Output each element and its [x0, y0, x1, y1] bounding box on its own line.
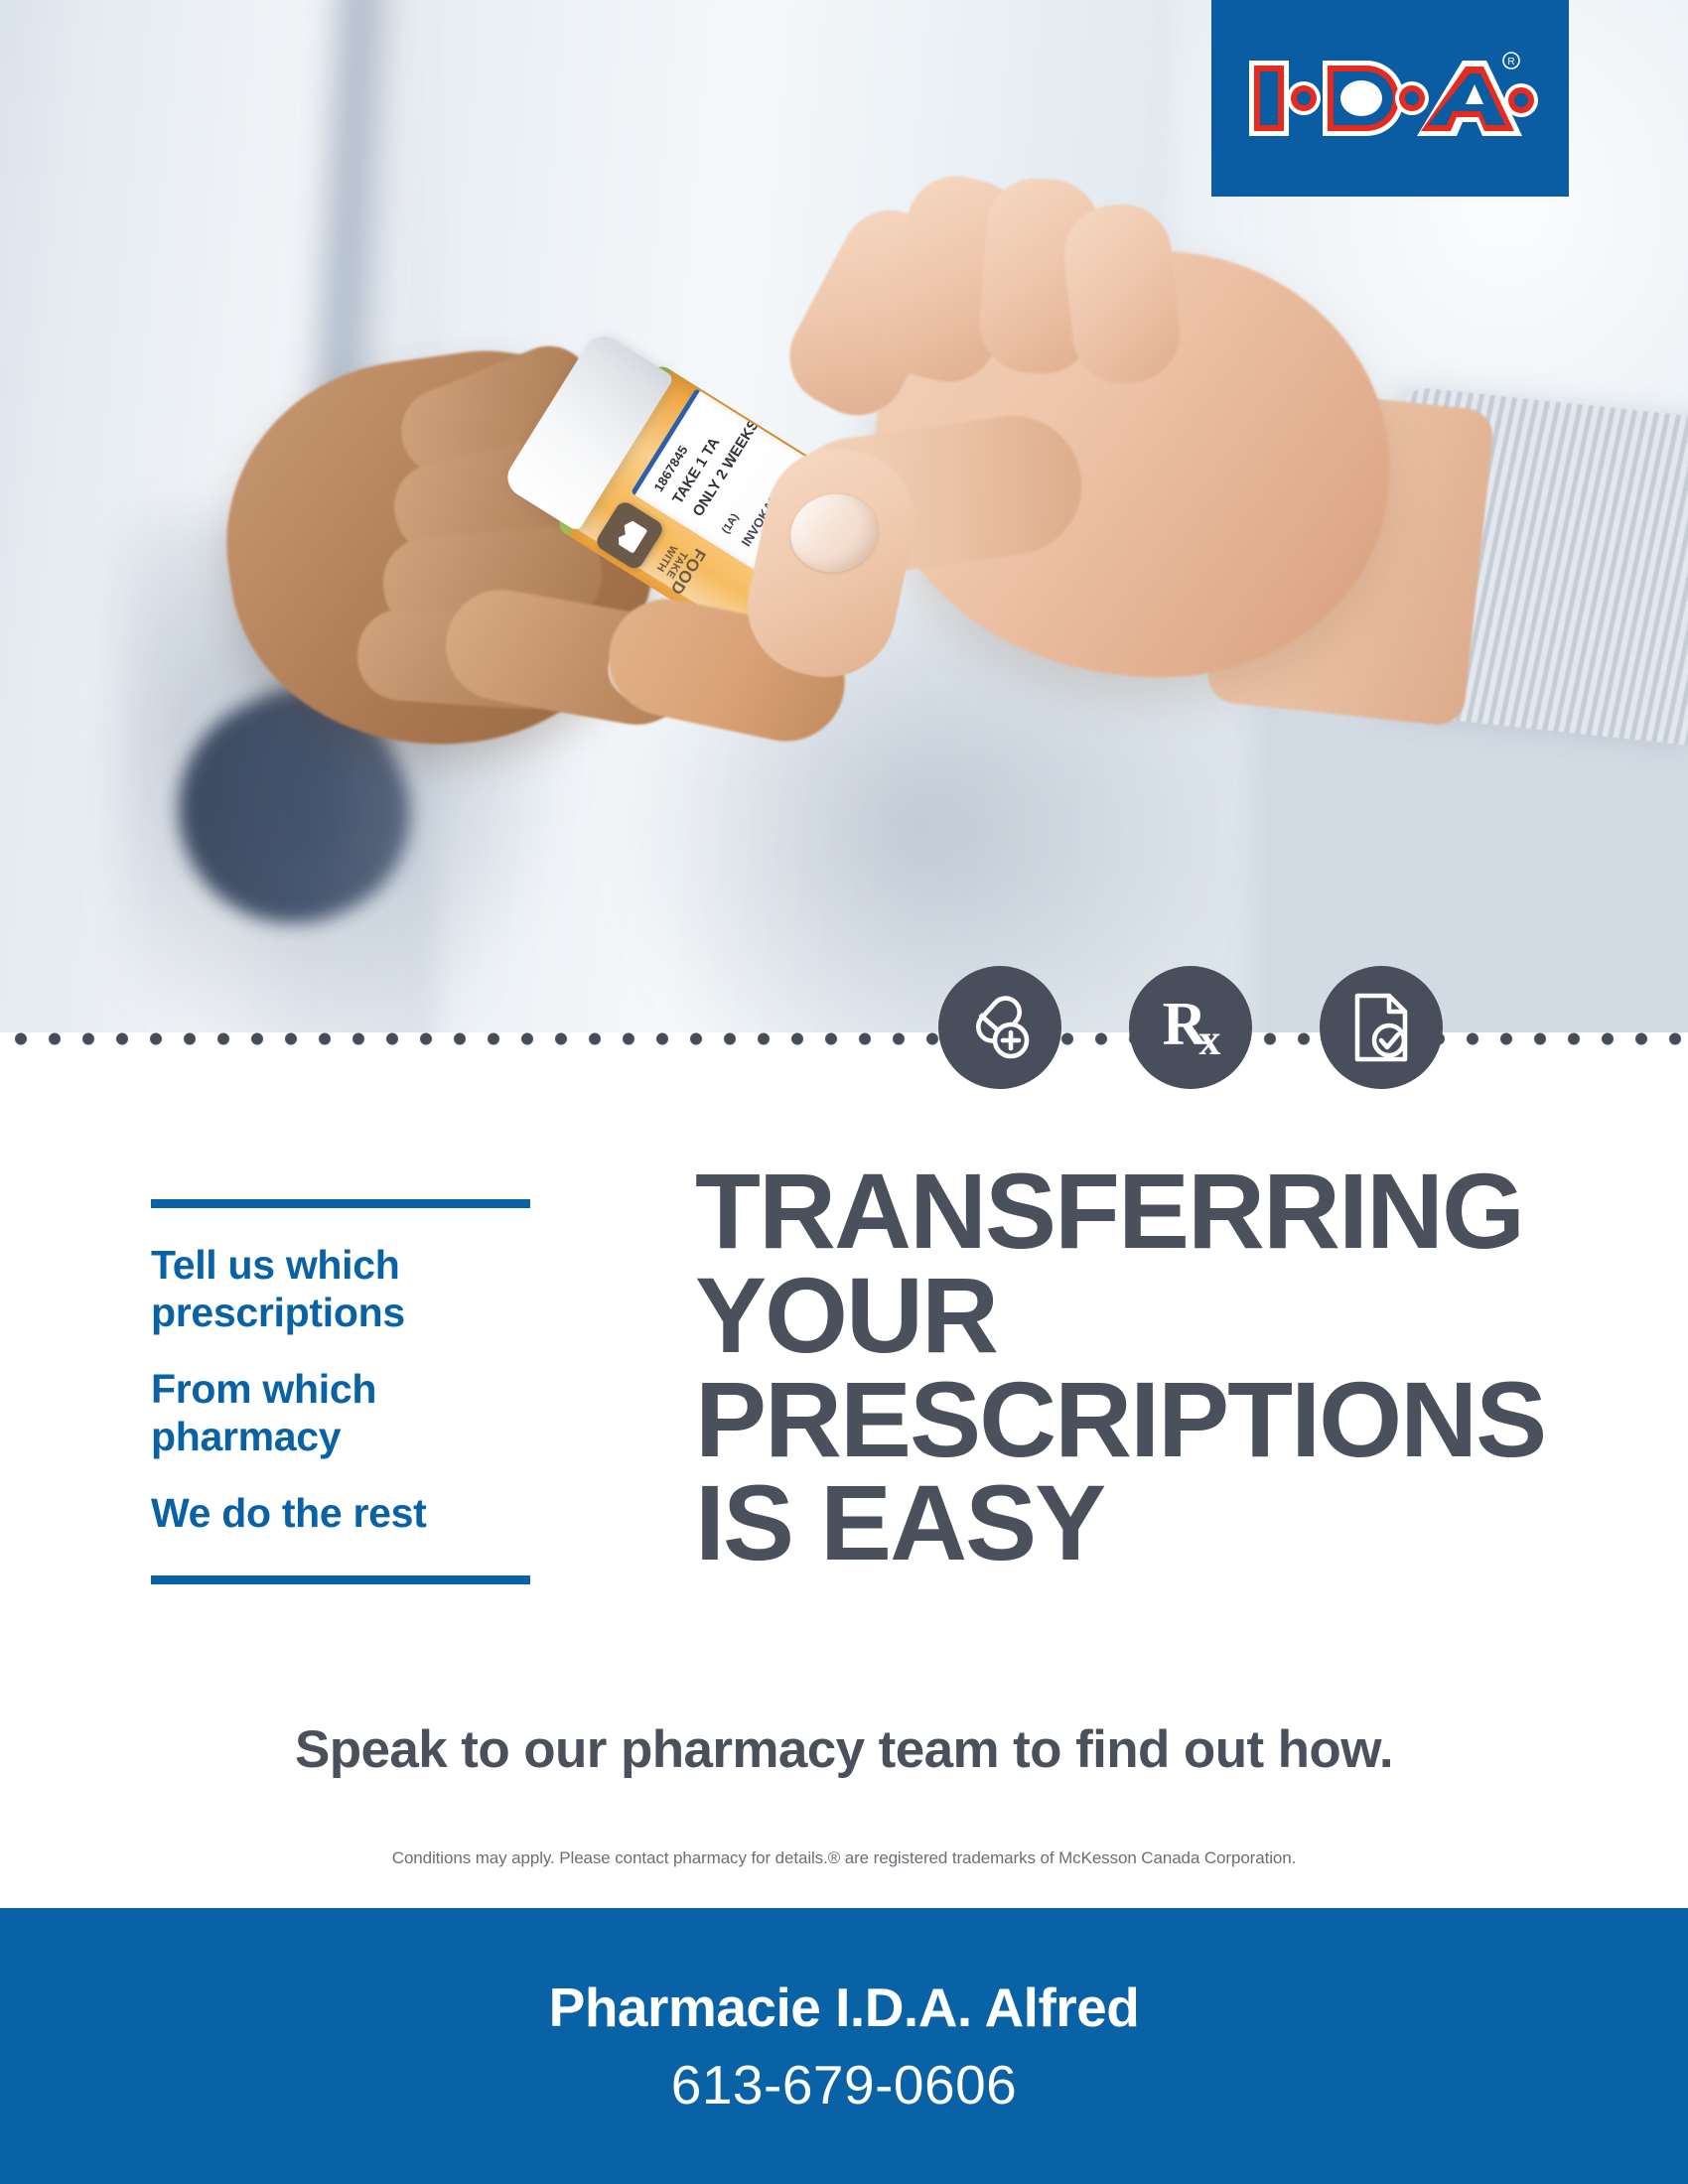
ida-logo: R — [1211, 0, 1569, 197]
pharmacy-phone[interactable]: 613-679-0606 — [671, 2053, 1018, 2116]
label-code: (1A) — [720, 511, 742, 535]
headline-line-1: TRANSFERRING — [695, 1160, 1569, 1264]
footer-bar: Pharmacie I.D.A. Alfred 613-679-0606 — [0, 1908, 1688, 2184]
svg-text:R: R — [1507, 57, 1514, 68]
step-item-3: We do the rest — [151, 1490, 530, 1538]
steps-column: Tell us which prescriptions From which p… — [151, 1199, 530, 1584]
steps-rule-bottom — [151, 1575, 530, 1584]
step-item-2: From which pharmacy — [151, 1366, 530, 1460]
steps-rule-top — [151, 1199, 530, 1208]
legal-fineprint: Conditions may apply. Please contact pha… — [0, 1848, 1688, 1868]
poster-root: FOOD TAKE WITH 1867845 TAKE 1 TA ONLY 2 … — [0, 0, 1688, 2184]
ida-logo-mark: R — [1241, 39, 1539, 158]
headline-line-3: PRESCRIPTIONS — [695, 1368, 1569, 1472]
headline-line-4: IS EASY — [695, 1471, 1569, 1575]
tagline: Speak to our pharmacy team to find out h… — [0, 1719, 1688, 1780]
headline-line-2: YOUR — [695, 1264, 1569, 1368]
step-item-1: Tell us which prescriptions — [151, 1242, 530, 1336]
headline-and-steps: Tell us which prescriptions From which p… — [0, 1052, 1688, 1688]
pharmacy-name: Pharmacie I.D.A. Alfred — [549, 1976, 1140, 2039]
page-title: TRANSFERRING YOUR PRESCRIPTIONS IS EASY — [695, 1160, 1569, 1575]
